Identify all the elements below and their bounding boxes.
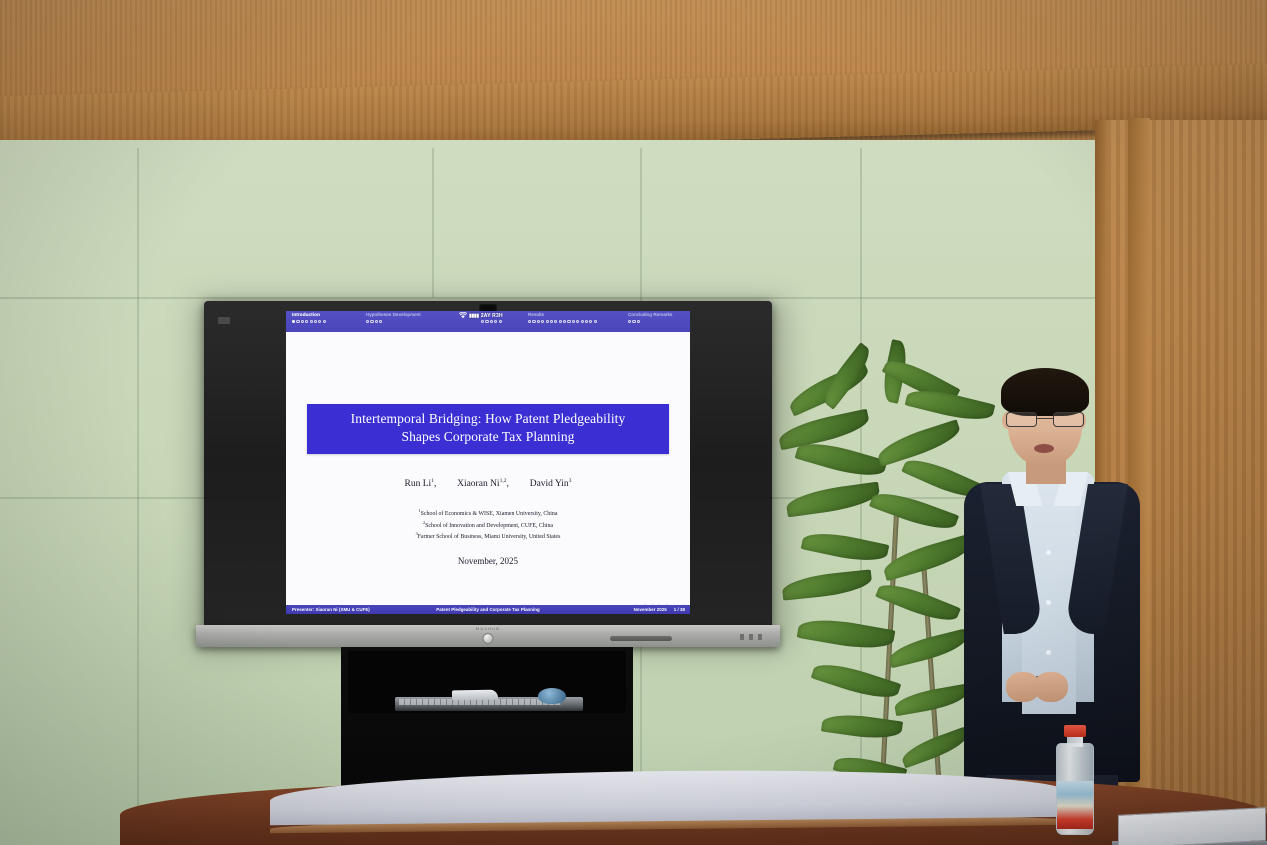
water-bottle <box>1056 725 1094 835</box>
beamer-navigation-bar[interactable]: Introduction Hypotheses Development Data <box>286 311 690 332</box>
name-plate <box>1118 807 1266 845</box>
footer-paper-title: Patent Pledgeability and Corporate Tax P… <box>436 607 540 612</box>
nav-section-introduction[interactable]: Introduction <box>292 312 326 323</box>
author-3: David Yin3 <box>530 479 572 489</box>
nav-dots-data <box>481 320 502 323</box>
conference-room-scene: Introduction Hypotheses Development Data <box>0 0 1267 845</box>
nav-section-results[interactable]: Results <box>528 312 597 323</box>
wall-seam <box>137 148 139 808</box>
nav-dots-hypotheses <box>366 320 421 323</box>
glasses-icon <box>1004 412 1086 427</box>
display-ports <box>740 634 766 640</box>
display-brand-label: MAXHUB <box>476 626 500 631</box>
hair <box>1001 368 1089 416</box>
footer-meta: November 2025 1 / 38 <box>634 607 685 612</box>
author-2: Xiaoran Ni1,2, <box>457 479 509 489</box>
presentation-slide[interactable]: Introduction Hypotheses Development Data <box>286 311 690 614</box>
nav-dots-introduction <box>292 320 326 323</box>
author-1: Run Li1, <box>405 479 437 489</box>
wall-seam <box>0 297 1267 299</box>
wall-seam <box>432 148 434 298</box>
display-side-button[interactable] <box>218 317 230 324</box>
affiliation-3: 3Farmer School of Business, Miami Univer… <box>286 531 690 543</box>
slide-title-box: Intertemporal Bridging: How Patent Pledg… <box>307 404 669 454</box>
slide-footer: Presenter: Xiaoran Ni (XMU & CUFE) Paten… <box>286 605 690 614</box>
affiliation-1: 1School of Economics & WISE, Xiamen Univ… <box>286 508 690 520</box>
shirt-button <box>1046 650 1051 655</box>
bottle-cap <box>1064 725 1086 737</box>
speaker-grille <box>610 636 672 641</box>
paper-sheet <box>452 690 498 701</box>
display-osd-overlay: ▮▮▮▮ 2AY R3H <box>459 312 503 319</box>
footer-date: November 2025 <box>634 607 667 612</box>
nav-section-hypotheses-development[interactable]: Hypotheses Development <box>366 312 421 323</box>
footer-page-number: 1 / 38 <box>674 607 685 612</box>
power-button-icon[interactable] <box>483 633 494 644</box>
page-title: Intertemporal Bridging: How Patent Pledg… <box>315 410 661 446</box>
osd-network-label: 2AY R3H <box>481 313 503 319</box>
author-list: Run Li1, Xiaoran Ni1,2, David Yin3 <box>286 478 690 489</box>
nav-section-concluding-remarks[interactable]: Concluding Remarks <box>628 312 672 323</box>
hand-right <box>1034 672 1068 702</box>
nav-dots-concluding <box>628 320 672 323</box>
shirt-button <box>1046 600 1051 605</box>
wifi-icon <box>459 312 467 319</box>
shirt-button <box>1046 550 1051 555</box>
display-bottom-bezel: MAXHUB <box>196 625 780 647</box>
presentation-date: November, 2025 <box>286 556 690 566</box>
mouth <box>1034 444 1054 453</box>
affiliation-2: 2School of Innovation and Development, C… <box>286 520 690 532</box>
nav-dots-results <box>528 320 597 323</box>
affiliation-list: 1School of Economics & WISE, Xiamen Univ… <box>286 508 690 543</box>
footer-presenter: Presenter: Xiaoran Ni (XMU & CUFE) <box>292 607 370 612</box>
presenter-person <box>930 360 1180 845</box>
bottle-label <box>1057 781 1093 829</box>
osd-signal-blocks: ▮▮▮▮ <box>469 313 479 319</box>
slide-content: Intertemporal Bridging: How Patent Pledg… <box>286 332 690 614</box>
mouse[interactable] <box>538 688 566 704</box>
